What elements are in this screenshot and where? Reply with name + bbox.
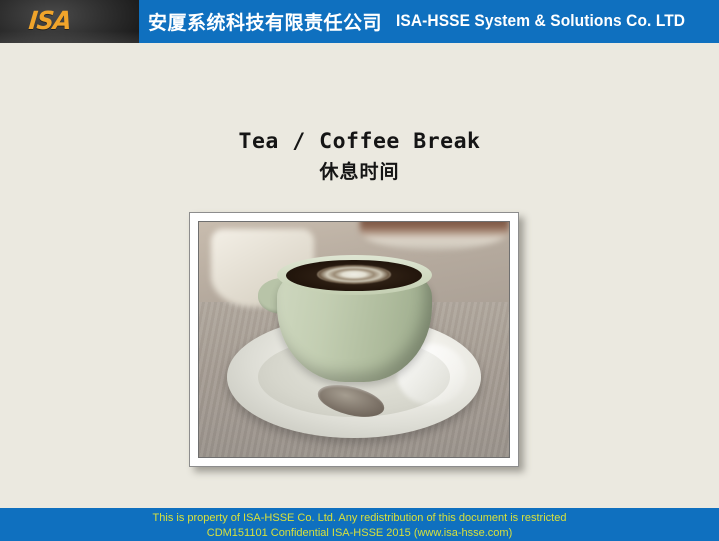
photo-frame xyxy=(189,212,519,467)
header-bar: ISA 安厦系统科技有限责任公司 ISA-HSSE System & Solut… xyxy=(0,0,719,43)
footer-bar: This is property of ISA-HSSE Co. Ltd. An… xyxy=(0,508,719,541)
slide: ISA 安厦系统科技有限责任公司 ISA-HSSE System & Solut… xyxy=(0,0,719,541)
footer-document-line: CDM151101 Confidential ISA-HSSE 2015 (ww… xyxy=(0,526,719,541)
coffee-cup-photo xyxy=(198,221,510,458)
logo-block: ISA xyxy=(0,0,139,43)
slide-title-group: Tea / Coffee Break 休息时间 xyxy=(0,128,719,186)
slide-title-cn: 休息时间 xyxy=(0,158,719,186)
isa-logo: ISA xyxy=(28,8,73,34)
header-title-group: 安厦系统科技有限责任公司 ISA-HSSE System & Solutions… xyxy=(148,0,704,43)
company-name-en: ISA-HSSE System & Solutions Co. LTD xyxy=(396,12,685,31)
slide-title-en: Tea / Coffee Break xyxy=(0,128,719,156)
footer-copyright-line: This is property of ISA-HSSE Co. Ltd. An… xyxy=(0,508,719,526)
company-name-cn: 安厦系统科技有限责任公司 xyxy=(148,8,382,35)
